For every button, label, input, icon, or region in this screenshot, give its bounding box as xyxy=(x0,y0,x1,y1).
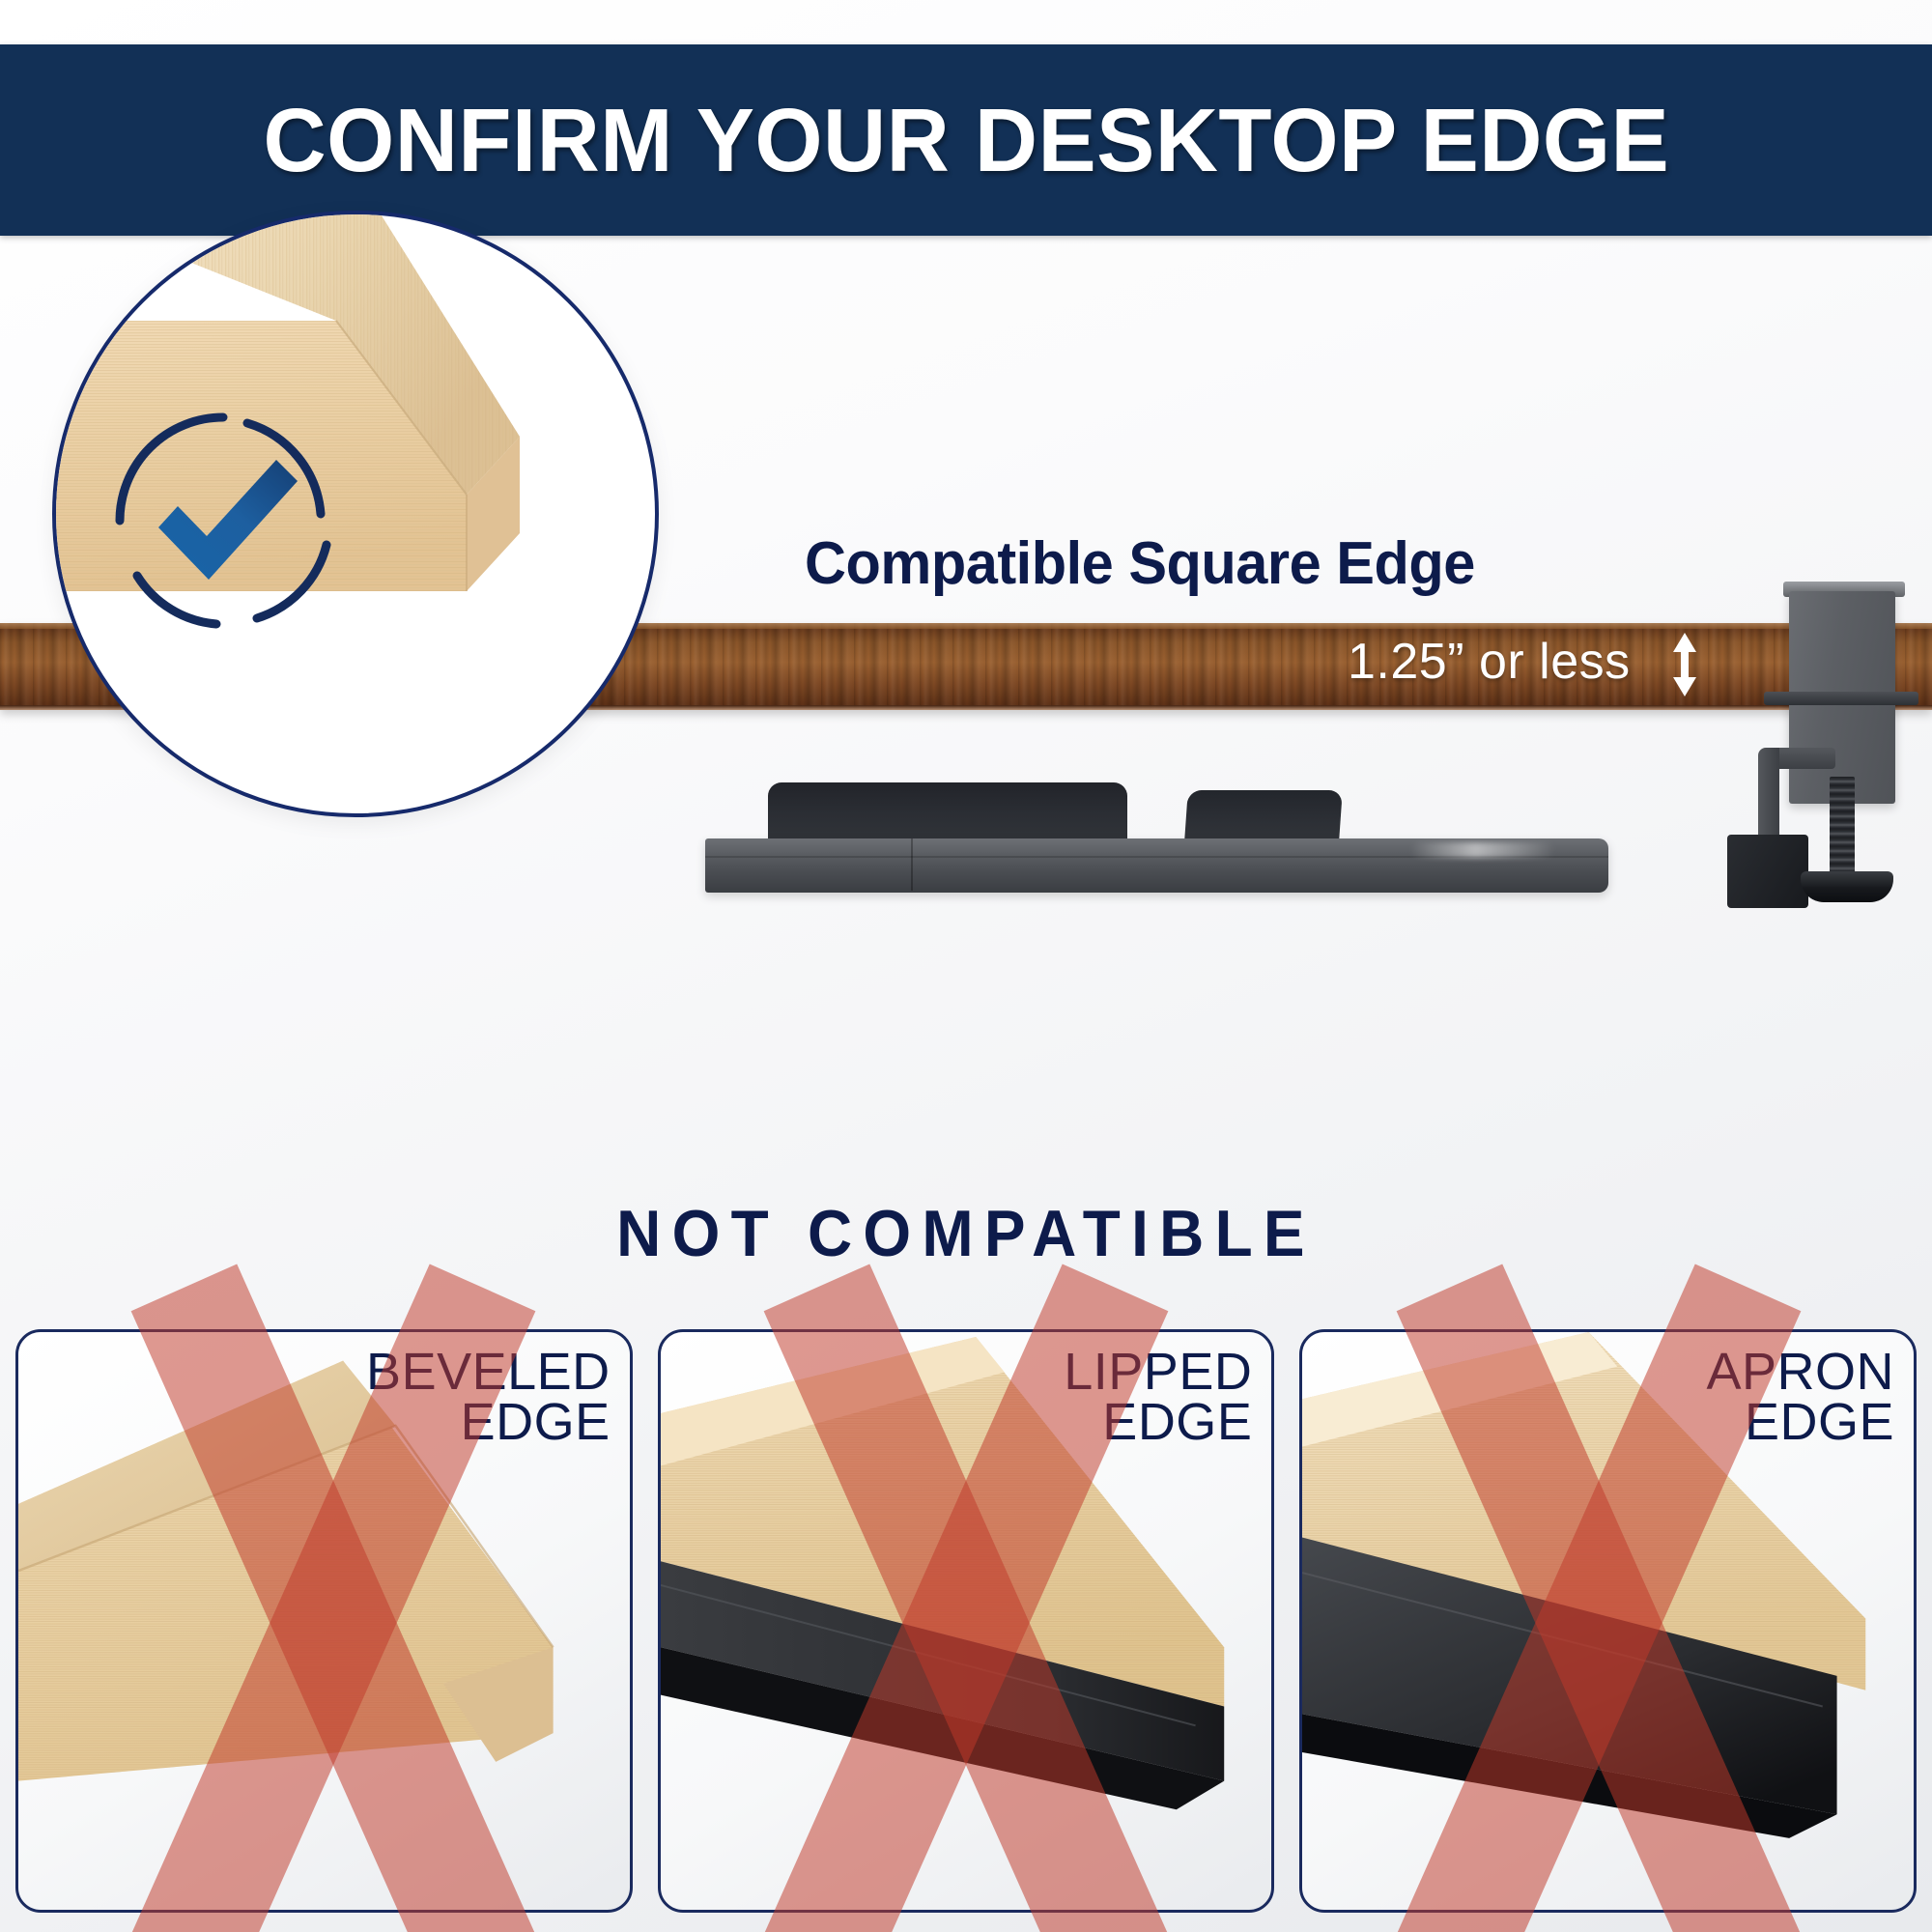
clamp-mount-bracket xyxy=(1727,835,1808,908)
card-label-lipped: LIPPED EDGE xyxy=(1064,1348,1252,1448)
card-label-apron: APRON EDGE xyxy=(1706,1348,1894,1448)
tray-seam-divider xyxy=(911,838,913,891)
infographic-page: CONFIRM YOUR DESKTOP EDGE Compatible Squ… xyxy=(0,0,1932,1932)
compatible-check-icon xyxy=(102,400,344,641)
double-arrow-vertical-icon xyxy=(1668,633,1701,696)
compatible-square-edge-label: Compatible Square Edge xyxy=(805,529,1475,598)
card-label-beveled: BEVELED EDGE xyxy=(366,1348,611,1448)
clamp-under-desk-hook xyxy=(1764,692,1918,705)
page-title: CONFIRM YOUR DESKTOP EDGE xyxy=(263,89,1669,192)
keyboard-pad xyxy=(768,782,1127,840)
tray-highlight-glint xyxy=(1410,842,1555,858)
card-beveled-edge: BEVELED EDGE xyxy=(15,1329,633,1913)
keyboard-tray-assembly xyxy=(676,753,1739,985)
not-compatible-heading: NOT COMPATIBLE xyxy=(58,1196,1874,1271)
card-apron-edge: APRON EDGE xyxy=(1299,1329,1917,1913)
clamp-threaded-screw xyxy=(1830,777,1855,883)
max-thickness-label: 1.25” or less xyxy=(1348,633,1631,691)
clamp-tightening-knob xyxy=(1801,871,1893,902)
not-compatible-card-row: BEVELED EDGE xyxy=(15,1329,1917,1913)
header-banner: CONFIRM YOUR DESKTOP EDGE xyxy=(0,44,1932,236)
card-lipped-edge: LIPPED EDGE xyxy=(658,1329,1275,1913)
mouse-pad xyxy=(1184,790,1343,840)
magnifier-callout-circle xyxy=(52,211,659,817)
desk-clamp-assembly xyxy=(1748,576,1932,962)
